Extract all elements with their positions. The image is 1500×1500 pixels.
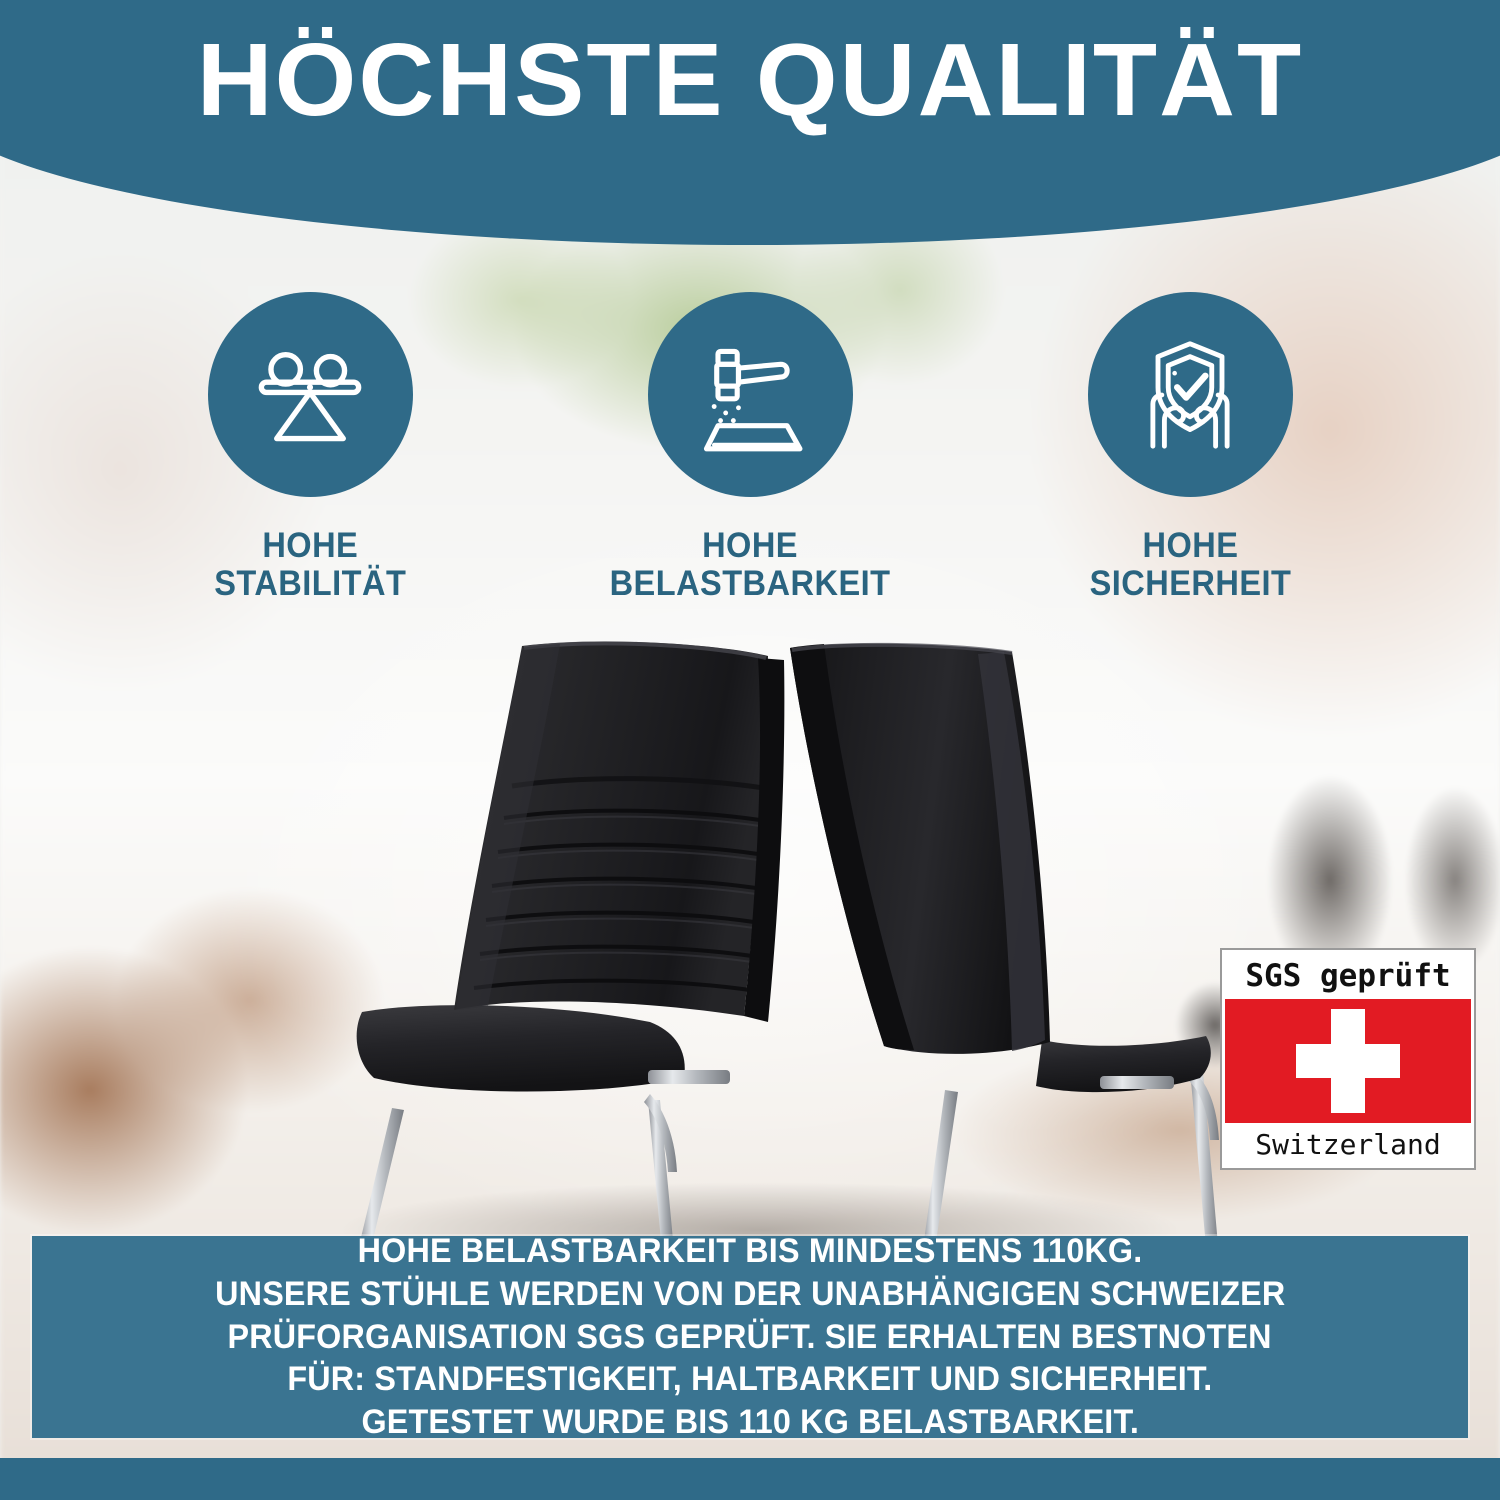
sgs-top-text: SGS geprüft (1225, 953, 1471, 999)
chair-back-right (790, 644, 1219, 1258)
feature-label-line1: HOHE (262, 526, 358, 565)
bottom-text-line-2: UNSERE STÜHLE WERDEN VON DER UNABHÄNGIGE… (215, 1273, 1285, 1316)
feature-label-line1: HOHE (702, 526, 798, 565)
feature-label-load: HOHE BELASTBARKEIT (610, 527, 891, 603)
swiss-cross-horizontal (1296, 1044, 1400, 1078)
feature-label-line2: BELASTBARKEIT (610, 565, 891, 603)
shield-check-hands-icon (1126, 331, 1254, 459)
bottom-text-panel: HOHE BELASTBARKEIT BIS MINDESTENS 110KG.… (32, 1236, 1468, 1438)
bottom-text-line-5: GETESTET WURDE BIS 110 KG BELASTBARKEIT. (361, 1401, 1139, 1444)
swiss-flag-icon (1225, 999, 1471, 1123)
footer-bar (0, 1458, 1500, 1500)
feature-label-line1: HOHE (1142, 526, 1238, 565)
feature-label-safety: HOHE SICHERHEIT (1089, 527, 1291, 603)
balance-scale-icon (246, 331, 374, 459)
bottom-text-line-4: FÜR: STANDFESTIGKEIT, HALTBARKEIT UND SI… (287, 1358, 1212, 1401)
product-infographic: HÖCHSTE QUALITÄT HOHE STABILITÄT (0, 0, 1500, 1500)
header-banner: HÖCHSTE QUALITÄT (0, 0, 1500, 245)
feature-stability[interactable]: HOHE STABILITÄT (160, 292, 460, 603)
feature-icon-circle-load (648, 292, 853, 497)
feature-label-stability: HOHE STABILITÄT (214, 527, 406, 603)
feature-icon-circle-stability (208, 292, 413, 497)
feature-label-line2: STABILITÄT (214, 565, 406, 603)
sgs-bottom-text: Switzerland (1225, 1123, 1471, 1165)
feature-load-capacity[interactable]: HOHE BELASTBARKEIT (600, 292, 900, 603)
sgs-certification-badge: SGS geprüft Switzerland (1222, 950, 1474, 1168)
feature-icon-circle-safety (1088, 292, 1293, 497)
chair-front-left (357, 641, 785, 1252)
page-title: HÖCHSTE QUALITÄT (0, 28, 1500, 131)
bottom-text-line-3: PRÜFORGANISATION SGS GEPRÜFT. SIE ERHALT… (228, 1316, 1272, 1359)
feature-safety[interactable]: HOHE SICHERHEIT (1040, 292, 1340, 603)
feature-badges: HOHE STABILITÄT (0, 292, 1500, 603)
bottom-text-line-1: HOHE BELASTBARKEIT BIS MINDESTENS 110KG. (358, 1230, 1143, 1273)
hammer-impact-icon (686, 331, 814, 459)
feature-label-line2: SICHERHEIT (1089, 565, 1291, 603)
